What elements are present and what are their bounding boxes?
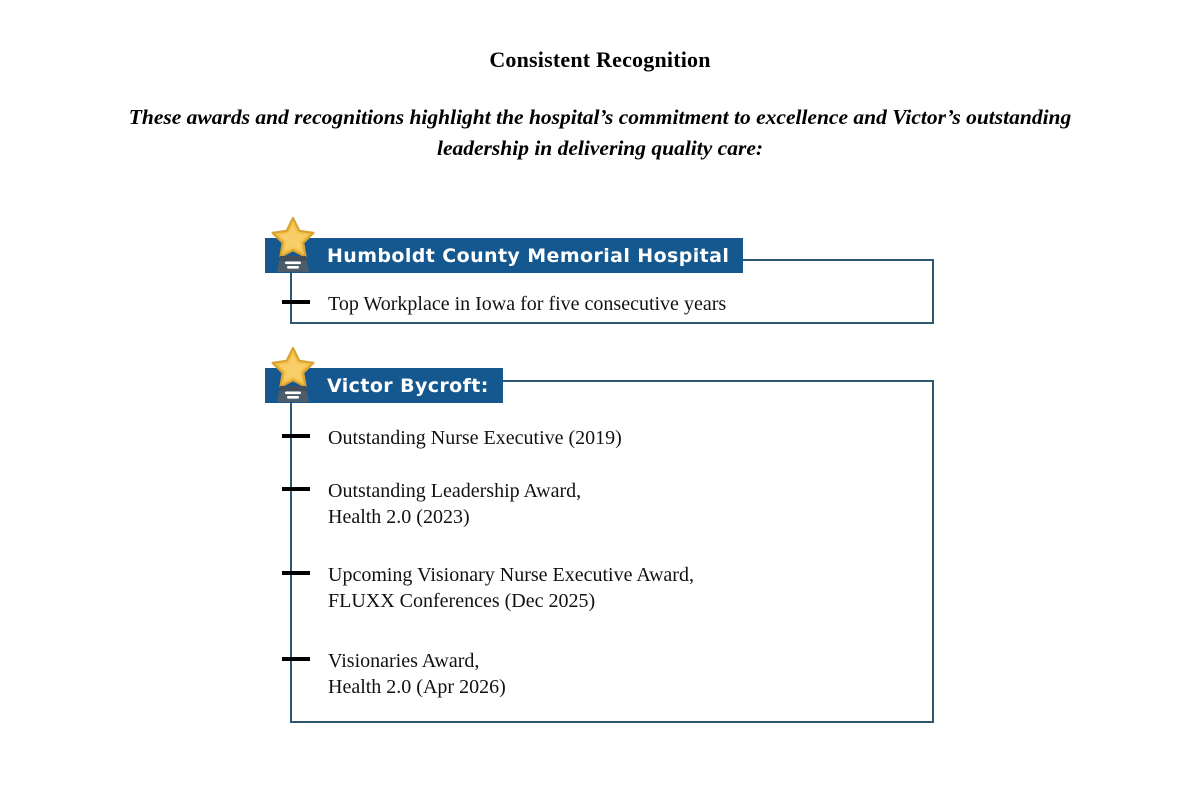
page-title: Consistent Recognition (0, 47, 1200, 73)
list-item-text: Outstanding Nurse Executive (2019) (328, 425, 622, 451)
list-item: Visionaries Award, Health 2.0 (Apr 2026) (282, 648, 922, 700)
page-subtitle: These awards and recognitions highlight … (85, 102, 1115, 164)
bullet-dash-marker (282, 657, 310, 661)
list-item-text: Visionaries Award, Health 2.0 (Apr 2026) (328, 648, 506, 700)
list-item-text: Upcoming Visionary Nurse Executive Award… (328, 562, 694, 614)
bullet-dash-marker (282, 487, 310, 491)
bullet-dash-marker (282, 571, 310, 575)
list-item: Outstanding Leadership Award, Health 2.0… (282, 478, 922, 530)
list-item-text: Outstanding Leadership Award, Health 2.0… (328, 478, 581, 530)
section-header-label: Victor Bycroft: (265, 375, 503, 397)
section-header-bar[interactable]: Humboldt County Memorial Hospital (265, 238, 743, 273)
section-header-bar[interactable]: Victor Bycroft: (265, 368, 503, 403)
list-item: Outstanding Nurse Executive (2019) (282, 425, 922, 451)
bullet-dash-marker (282, 300, 310, 304)
section-header-label: Humboldt County Memorial Hospital (265, 245, 743, 267)
list-item: Upcoming Visionary Nurse Executive Award… (282, 562, 922, 614)
list-item-text: Top Workplace in Iowa for five consecuti… (328, 291, 726, 317)
list-item: Top Workplace in Iowa for five consecuti… (282, 291, 922, 317)
bullet-dash-marker (282, 434, 310, 438)
